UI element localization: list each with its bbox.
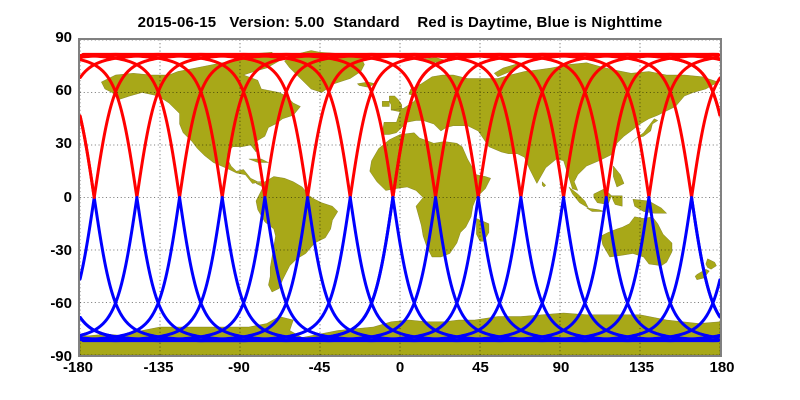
y-tick-label: -60 bbox=[12, 296, 72, 311]
landmass bbox=[542, 182, 546, 187]
y-tick-label: 0 bbox=[12, 190, 72, 205]
x-tick-label: -90 bbox=[199, 360, 279, 375]
y-tick-label: 30 bbox=[12, 136, 72, 151]
y-tick-label: -30 bbox=[12, 243, 72, 258]
y-axis-ticks: -90-60-300306090 bbox=[8, 38, 72, 357]
x-tick-label: 0 bbox=[360, 360, 440, 375]
daytime-track bbox=[80, 116, 94, 198]
x-tick-label: 135 bbox=[602, 360, 682, 375]
x-tick-label: 180 bbox=[682, 360, 762, 375]
x-tick-label: 45 bbox=[441, 360, 521, 375]
x-tick-label: -135 bbox=[119, 360, 199, 375]
landmass bbox=[594, 189, 612, 205]
landmass bbox=[569, 187, 589, 208]
page-title: 2015-06-15 Version: 5.00 Standard Red is… bbox=[0, 14, 800, 31]
nighttime-track bbox=[80, 198, 94, 280]
landmass bbox=[613, 166, 624, 187]
nighttime-track bbox=[83, 198, 222, 341]
nighttime-track bbox=[83, 198, 264, 341]
landmass bbox=[382, 101, 389, 106]
map-and-orbits-svg bbox=[80, 40, 720, 355]
x-axis-ticks: -180-135-90-4504590135180 bbox=[78, 360, 722, 384]
y-tick-label: 90 bbox=[12, 30, 72, 45]
x-tick-label: -180 bbox=[38, 360, 118, 375]
landmass bbox=[587, 208, 605, 212]
landmass bbox=[706, 259, 717, 270]
x-tick-label: 90 bbox=[521, 360, 601, 375]
landmass bbox=[256, 177, 338, 293]
plot-frame bbox=[78, 38, 722, 357]
chart-canvas: 2015-06-15 Version: 5.00 Standard Red is… bbox=[0, 0, 800, 400]
landmass bbox=[695, 269, 709, 280]
y-tick-label: 60 bbox=[12, 83, 72, 98]
nighttime-track bbox=[81, 198, 137, 336]
x-tick-label: -45 bbox=[280, 360, 360, 375]
